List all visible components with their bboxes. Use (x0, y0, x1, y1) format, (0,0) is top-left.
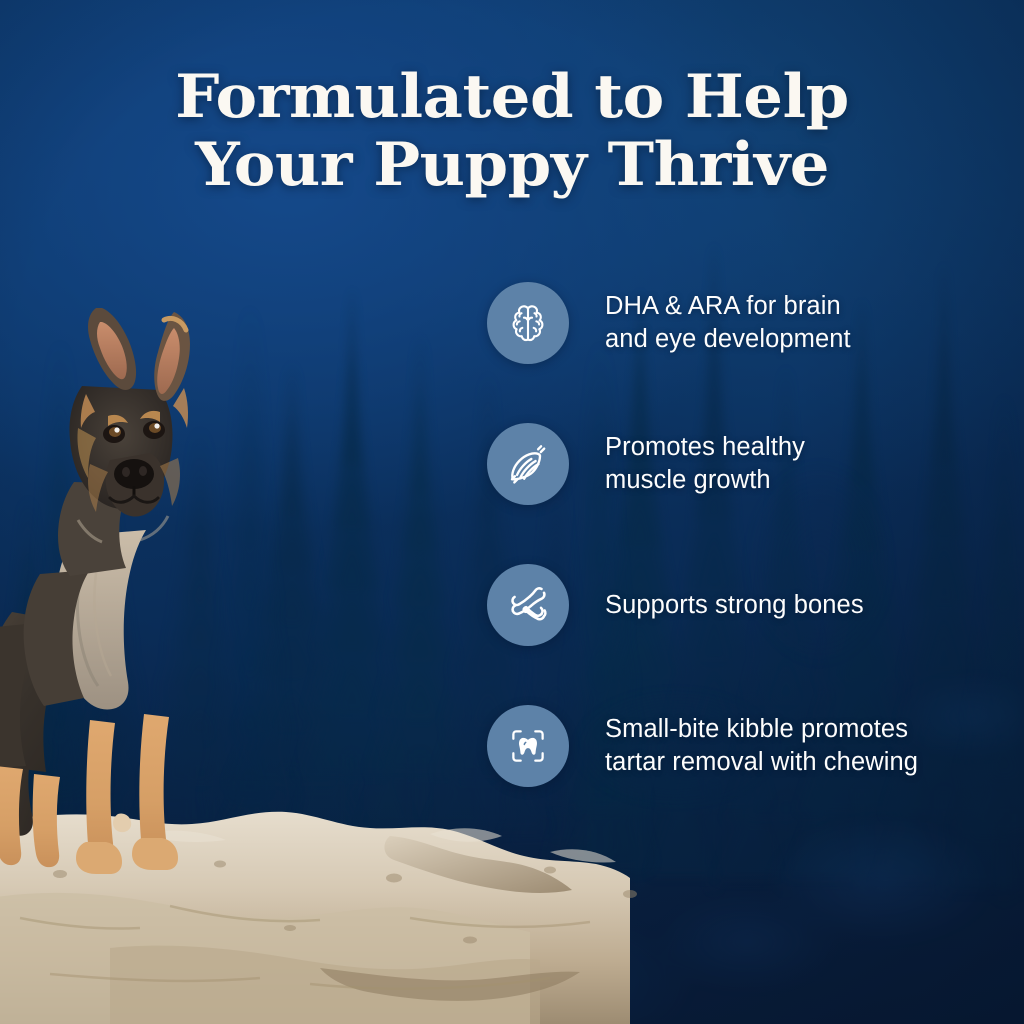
bone-joint-icon (487, 564, 569, 646)
german-shepherd-puppy-photo (0, 268, 348, 928)
headline: Formulated to Help Your Puppy Thrive (0, 64, 1024, 200)
benefit-text: DHA & ARA for brain and eye development (605, 290, 851, 355)
muscle-fiber-icon (487, 423, 569, 505)
benefit-item: Supports strong bones (487, 564, 987, 646)
headline-line-1: Formulated to Help (0, 64, 1024, 132)
benefit-text: Promotes healthy muscle growth (605, 431, 805, 496)
tooth-focus-icon (487, 705, 569, 787)
benefit-list: DHA & ARA for brain and eye development (487, 282, 987, 787)
brain-icon (487, 282, 569, 364)
benefit-item: Small-bite kibble promotes tartar remova… (487, 705, 987, 787)
headline-line-2: Your Puppy Thrive (0, 132, 1024, 200)
product-benefit-ad: Formulated to Help Your Puppy Thrive (0, 0, 1024, 1024)
benefit-text: Supports strong bones (605, 589, 864, 622)
benefit-item: DHA & ARA for brain and eye development (487, 282, 987, 364)
benefit-item: Promotes healthy muscle growth (487, 423, 987, 505)
benefit-text: Small-bite kibble promotes tartar remova… (605, 713, 918, 778)
